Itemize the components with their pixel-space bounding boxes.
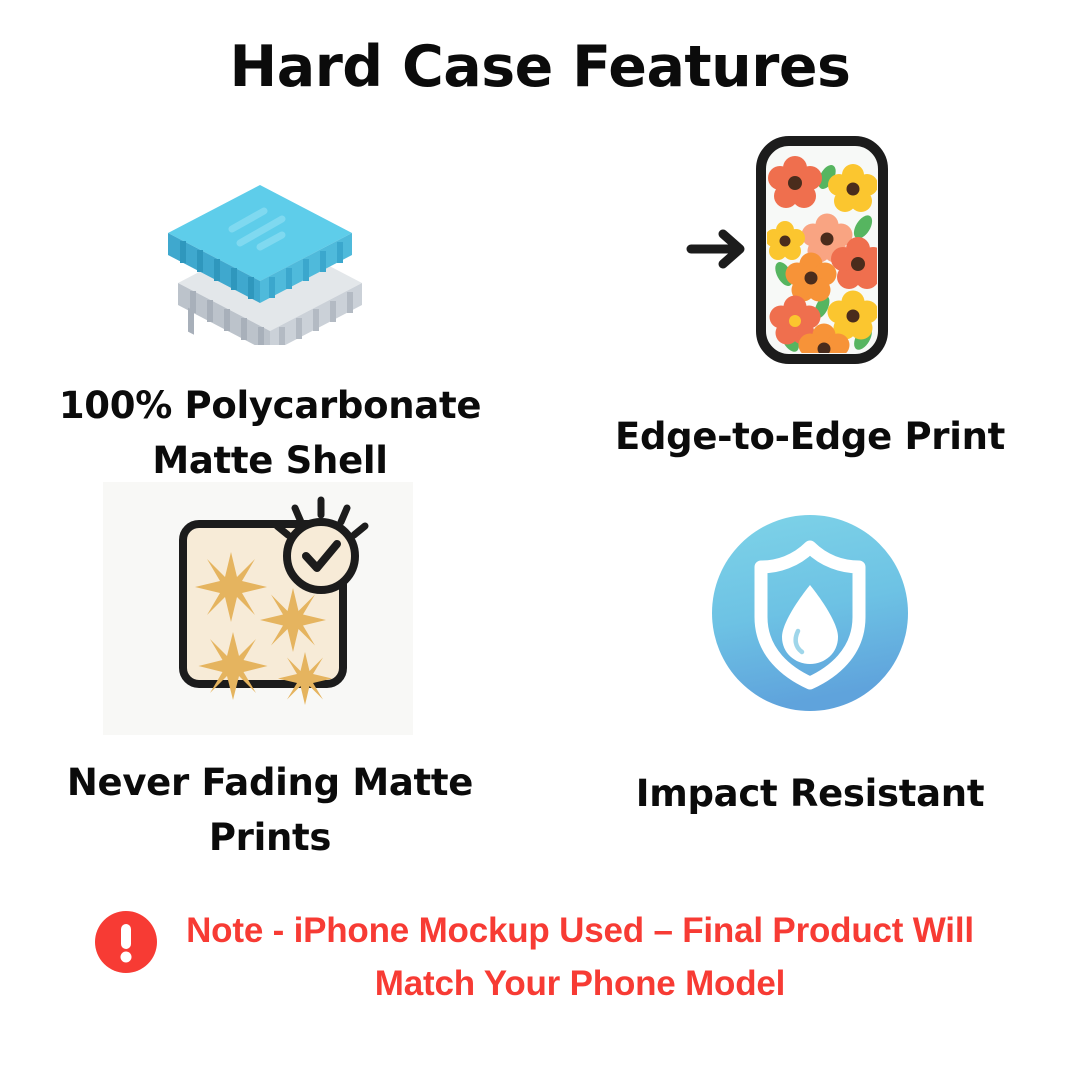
sparkle-panel-check-icon <box>0 468 540 733</box>
disclaimer-note-text: Note - iPhone Mockup Used – Final Produc… <box>175 905 985 1010</box>
shield-droplet-icon <box>540 498 1080 728</box>
feature-grid: 100% Polycarbonate Matte Shell <box>0 128 1080 888</box>
feature-label-edge-to-edge-print: Edge-to-Edge Print <box>540 409 1080 464</box>
page-title: Hard Case Features <box>0 34 1080 100</box>
feature-polycarbonate-shell: 100% Polycarbonate Matte Shell <box>0 150 540 488</box>
feature-never-fading-prints: Never Fading Matte Prints <box>0 468 540 865</box>
layered-slabs-icon <box>0 150 540 350</box>
exclamation-circle-icon <box>95 911 157 978</box>
floral-phone-icon <box>540 128 1080 373</box>
feature-label-never-fading-prints: Never Fading Matte Prints <box>0 755 540 865</box>
disclaimer-note: Note - iPhone Mockup Used – Final Produc… <box>0 905 1080 1010</box>
feature-label-impact-resistant: Impact Resistant <box>540 766 1080 821</box>
infographic-page: Hard Case Features <box>0 0 1080 1080</box>
feature-edge-to-edge-print: Edge-to-Edge Print <box>540 128 1080 464</box>
feature-impact-resistant: Impact Resistant <box>540 498 1080 821</box>
